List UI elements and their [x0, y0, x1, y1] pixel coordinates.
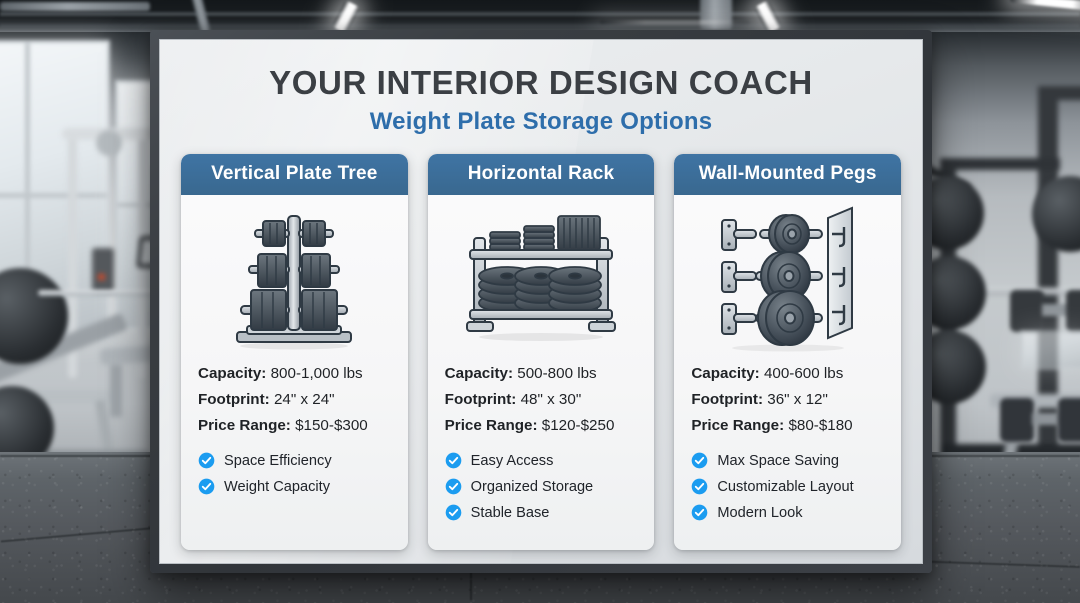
card-title: Vertical Plate Tree: [181, 154, 408, 195]
feature-item: Max Space Saving: [691, 452, 884, 469]
feature-label: Customizable Layout: [717, 479, 853, 495]
poster-panel: YOUR INTERIOR DESIGN COACH Weight Plate …: [159, 39, 923, 564]
card-title: Horizontal Rack: [428, 154, 655, 195]
card-wall-mounted-pegs[interactable]: Wall-Mounted Pegs: [674, 154, 901, 550]
page-title: YOUR INTERIOR DESIGN COACH: [160, 66, 922, 99]
page-subtitle: Weight Plate Storage Options: [160, 110, 922, 134]
ceiling-duct: [700, 0, 732, 30]
spec-value: 48" x 30": [521, 391, 582, 408]
dumbbell: [1010, 290, 1080, 332]
spec-value: 36" x 12": [767, 391, 828, 408]
feature-item: Customizable Layout: [691, 478, 884, 495]
wall-mounted-pegs-icon: [674, 195, 901, 358]
spec-label: Footprint:: [445, 391, 517, 408]
gym-mirror-panel: [1020, 330, 1080, 370]
spec-footprint: Footprint: 48" x 30": [445, 387, 638, 413]
spec-value: $80-$180: [788, 417, 852, 434]
check-circle-icon: [445, 478, 462, 495]
spec-value: 400-600 lbs: [764, 365, 843, 382]
spec-value: $120-$250: [542, 417, 615, 434]
feature-item: Space Efficiency: [198, 452, 391, 469]
spec-label: Capacity:: [691, 365, 759, 382]
ceiling-duct: [0, 2, 150, 11]
spec-capacity: Capacity: 400-600 lbs: [691, 361, 884, 387]
spec-label: Price Range:: [445, 417, 538, 434]
dumbbell: [1000, 398, 1080, 442]
spec-label: Price Range:: [691, 417, 784, 434]
feature-item: Easy Access: [445, 452, 638, 469]
feature-label: Easy Access: [471, 453, 554, 469]
feature-label: Max Space Saving: [717, 453, 839, 469]
check-circle-icon: [691, 504, 708, 521]
spec-label: Price Range:: [198, 417, 291, 434]
card-features: Easy Access Organized Storage: [428, 439, 655, 521]
card-features: Max Space Saving Customizable Layout: [674, 439, 901, 521]
spec-value: $150-$300: [295, 417, 368, 434]
ceiling-beam: [0, 12, 1080, 16]
feature-item: Organized Storage: [445, 478, 638, 495]
check-circle-icon: [445, 452, 462, 469]
spec-footprint: Footprint: 36" x 12": [691, 387, 884, 413]
poster-header: YOUR INTERIOR DESIGN COACH Weight Plate …: [160, 40, 922, 134]
cards-row: Vertical Plate Tree: [160, 134, 922, 550]
feature-item: Weight Capacity: [198, 478, 391, 495]
spec-price-range: Price Range: $120-$250: [445, 413, 638, 439]
feature-item: Modern Look: [691, 504, 884, 521]
check-circle-icon: [198, 452, 215, 469]
poster-frame: YOUR INTERIOR DESIGN COACH Weight Plate …: [150, 30, 932, 573]
spec-label: Capacity:: [445, 365, 513, 382]
card-specs: Capacity: 800-1,000 lbs Footprint: 24" x…: [181, 358, 408, 439]
spec-footprint: Footprint: 24" x 24": [198, 387, 391, 413]
spec-label: Capacity:: [198, 365, 266, 382]
spec-label: Footprint:: [691, 391, 763, 408]
barbell-bar: [38, 290, 168, 296]
spec-price-range: Price Range: $150-$300: [198, 413, 391, 439]
spec-capacity: Capacity: 500-800 lbs: [445, 361, 638, 387]
check-circle-icon: [691, 478, 708, 495]
spec-capacity: Capacity: 800-1,000 lbs: [198, 361, 391, 387]
spec-label: Footprint:: [198, 391, 270, 408]
feature-label: Stable Base: [471, 505, 550, 521]
card-vertical-plate-tree[interactable]: Vertical Plate Tree: [181, 154, 408, 550]
feature-item: Stable Base: [445, 504, 638, 521]
horizontal-rack-icon: [428, 195, 655, 358]
feature-label: Space Efficiency: [224, 453, 332, 469]
feature-label: Organized Storage: [471, 479, 594, 495]
card-features: Space Efficiency Weight Capacity: [181, 439, 408, 495]
check-circle-icon: [198, 478, 215, 495]
spec-value: 24" x 24": [274, 391, 335, 408]
vertical-plate-tree-icon: [181, 195, 408, 358]
check-circle-icon: [691, 452, 708, 469]
card-title: Wall-Mounted Pegs: [674, 154, 901, 195]
feature-label: Weight Capacity: [224, 479, 330, 495]
card-specs: Capacity: 500-800 lbs Footprint: 48" x 3…: [428, 358, 655, 439]
card-specs: Capacity: 400-600 lbs Footprint: 36" x 1…: [674, 358, 901, 439]
spec-price-range: Price Range: $80-$180: [691, 413, 884, 439]
spec-value: 800-1,000 lbs: [271, 365, 363, 382]
gym-ceiling: [0, 0, 1080, 32]
check-circle-icon: [445, 504, 462, 521]
feature-label: Modern Look: [717, 505, 802, 521]
infographic-scene: YOUR INTERIOR DESIGN COACH Weight Plate …: [0, 0, 1080, 603]
ceiling-beam: [0, 24, 1080, 27]
ceiling-light: [600, 20, 750, 25]
card-horizontal-rack[interactable]: Horizontal Rack: [428, 154, 655, 550]
spec-value: 500-800 lbs: [517, 365, 596, 382]
